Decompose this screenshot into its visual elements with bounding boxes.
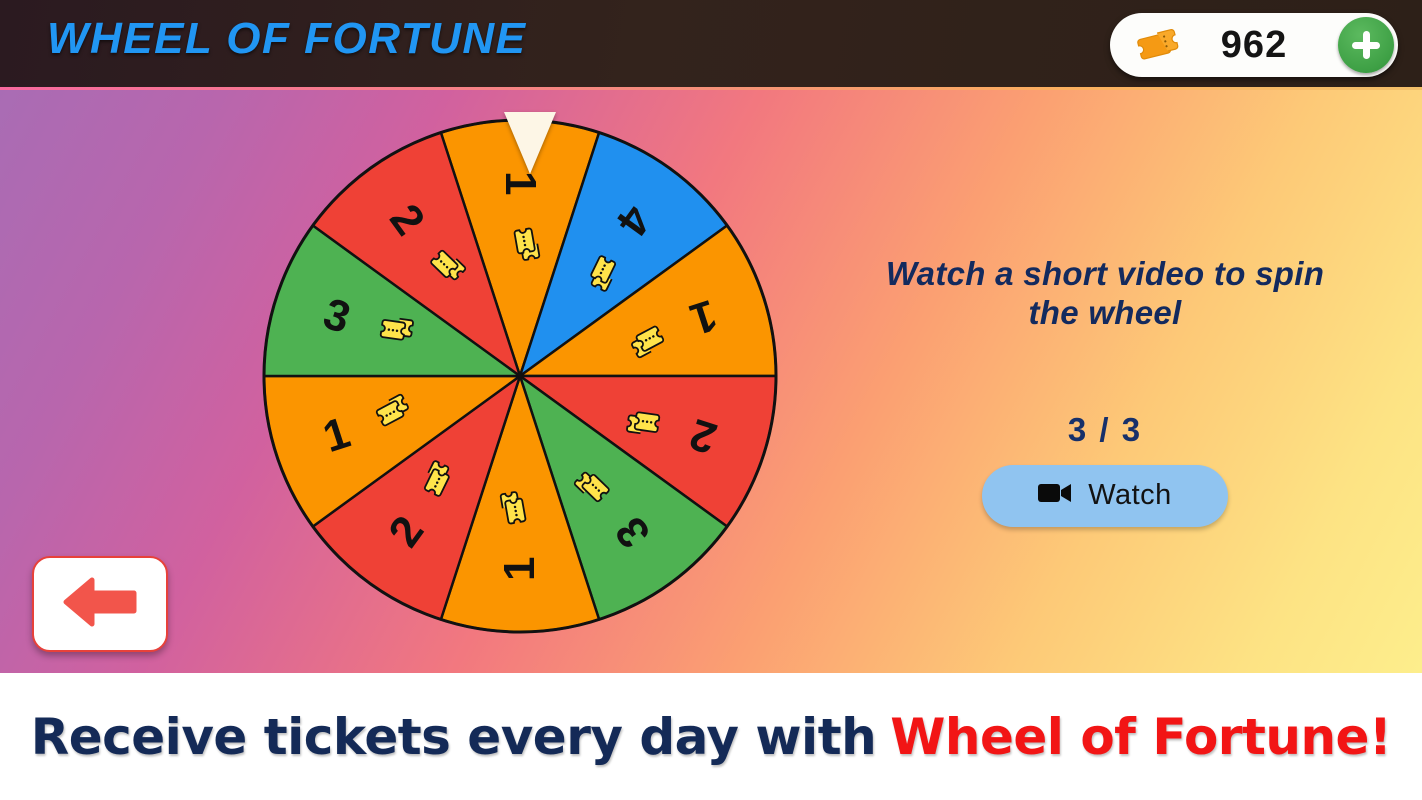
arrow-left-icon xyxy=(62,577,138,632)
banner-text-highlight: Wheel of Fortune! xyxy=(890,708,1391,766)
fortune-wheel[interactable]: 1412312132 xyxy=(262,118,778,634)
pointer-triangle-icon xyxy=(504,112,556,174)
back-button[interactable] xyxy=(32,556,168,652)
banner-text-primary: Receive tickets every day with xyxy=(31,708,876,766)
top-bar: WHEEL OF FORTUNE 962 xyxy=(0,0,1422,90)
wheel-graphic[interactable]: 1412312132 xyxy=(262,118,778,634)
wheel-of-fortune-screen: WHEEL OF FORTUNE 962 xyxy=(0,0,1422,800)
panel-description: Watch a short video to spin the wheel xyxy=(860,255,1350,333)
svg-text:1: 1 xyxy=(496,171,545,195)
side-panel: Watch a short video to spin the wheel 3 … xyxy=(860,255,1350,527)
watch-button[interactable]: Watch xyxy=(982,465,1228,527)
spins-remaining: 3 / 3 xyxy=(860,411,1350,449)
ticket-counter: 962 xyxy=(1110,13,1398,77)
add-tickets-button[interactable] xyxy=(1338,17,1394,73)
video-camera-icon xyxy=(1038,481,1072,510)
svg-text:1: 1 xyxy=(495,556,544,580)
promo-banner: Receive tickets every day with Wheel of … xyxy=(0,673,1422,800)
page-title: WHEEL OF FORTUNE xyxy=(47,14,527,64)
watch-button-label: Watch xyxy=(1088,479,1172,512)
plus-icon-vertical xyxy=(1363,31,1370,59)
main-stage: 1412312132 Watch a short video to spin t… xyxy=(0,90,1422,673)
